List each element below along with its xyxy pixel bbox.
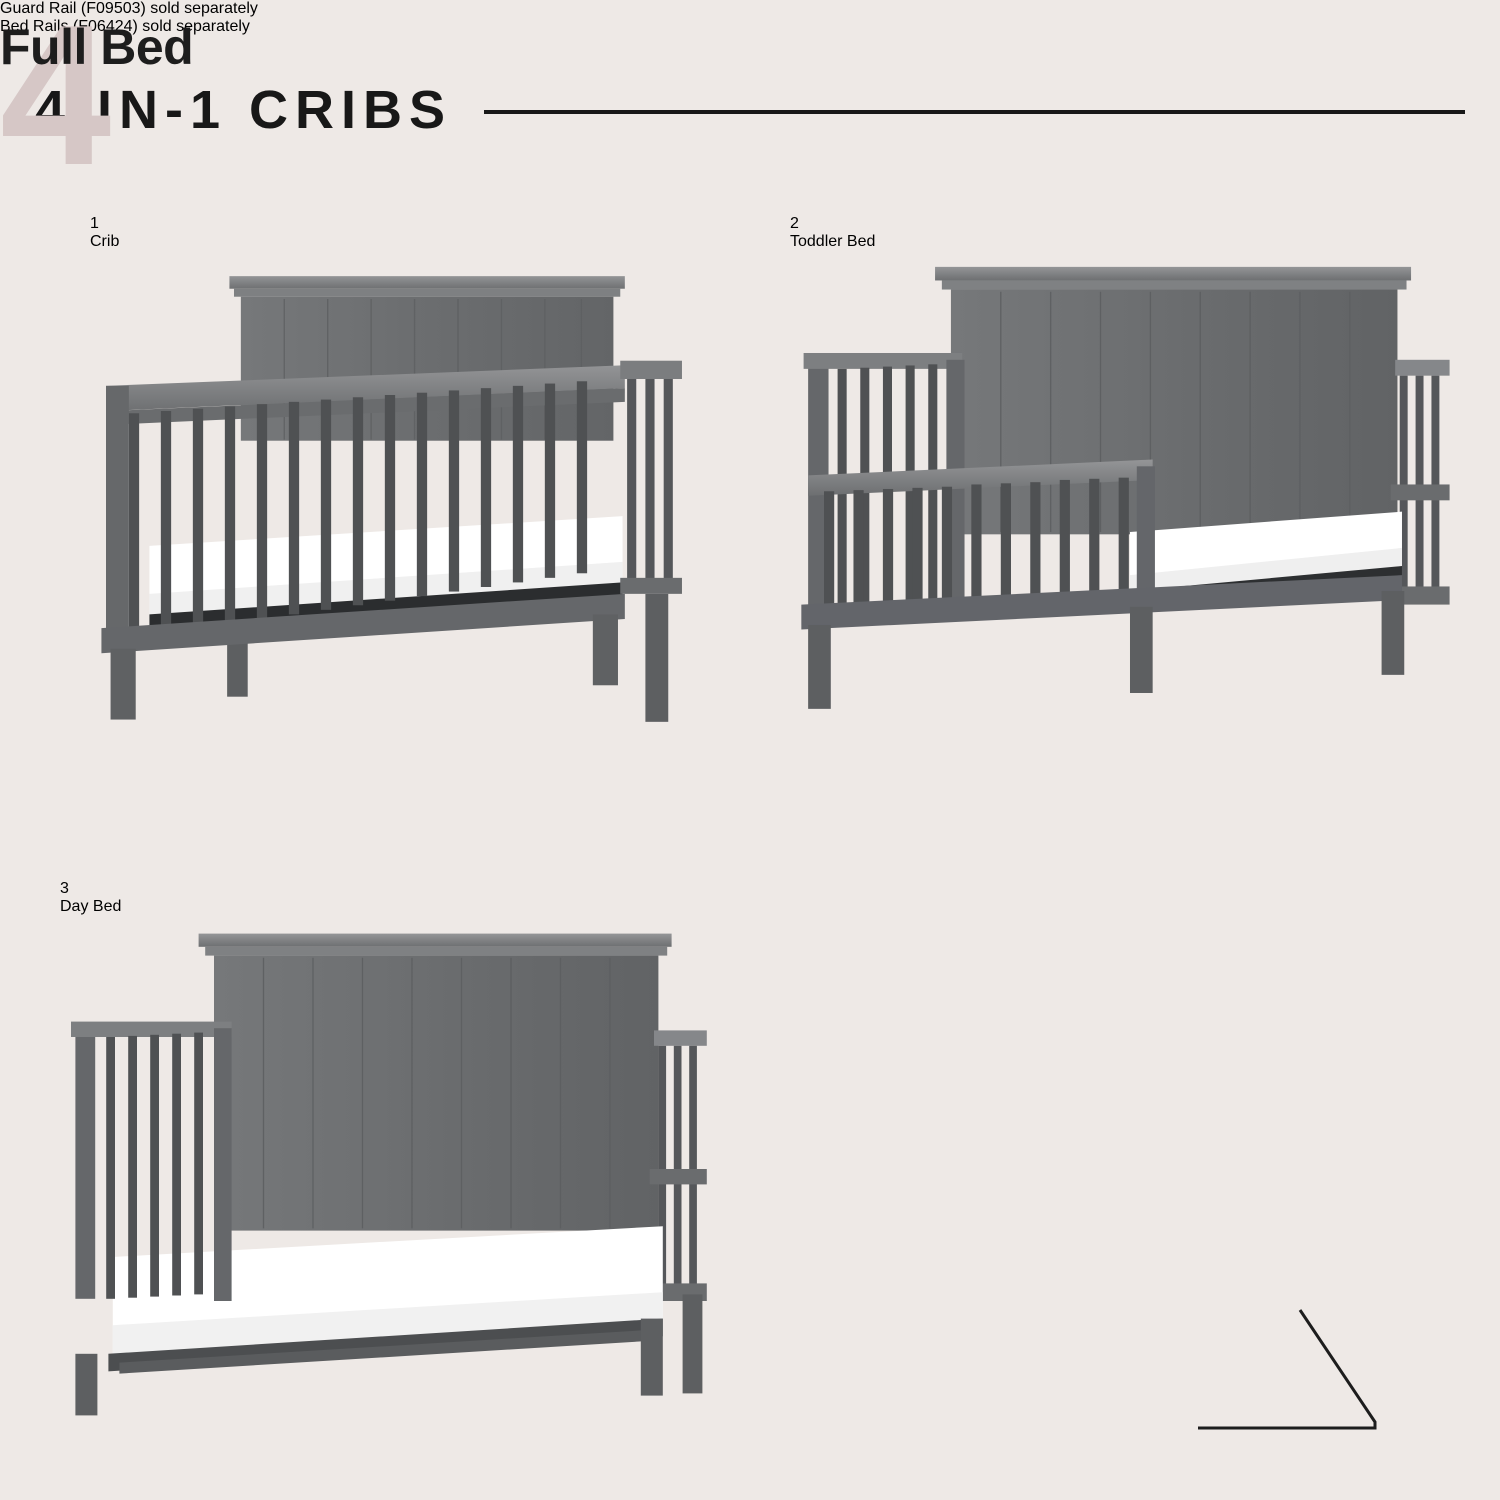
step-panel-toddler-bed: 2 Toddler Bed xyxy=(790,215,1470,895)
step-label-crib: Crib xyxy=(90,233,730,251)
crib-illustration xyxy=(90,251,730,759)
step-number-1: 1 xyxy=(90,215,730,233)
step-panel-crib: 1 Crib xyxy=(90,215,730,835)
infographic-page: 4-IN-1 CRIBS 1 Crib xyxy=(0,0,1500,1500)
bed-rails-annotation: Bed Rails (F06424) sold separately xyxy=(0,18,1500,36)
step-number-3: 3 xyxy=(60,880,720,898)
header-divider xyxy=(484,110,1465,114)
step-panel-day-bed: 3 Day Bed xyxy=(60,880,720,1470)
day-bed-illustration xyxy=(60,916,720,1427)
toddler-bed-illustration xyxy=(790,251,1470,755)
step-label-full-bed: Full Bed xyxy=(0,18,193,76)
guard-rail-annotation: Guard Rail (F09503) sold separately xyxy=(0,0,1500,18)
step-number-2: 2 xyxy=(790,215,1470,233)
step-label-toddler-bed: Toddler Bed xyxy=(790,233,1470,251)
step-label-day-bed: Day Bed xyxy=(60,898,720,916)
bed-rails-leader-line xyxy=(1090,1300,1380,1440)
header: 4-IN-1 CRIBS xyxy=(35,75,1465,145)
